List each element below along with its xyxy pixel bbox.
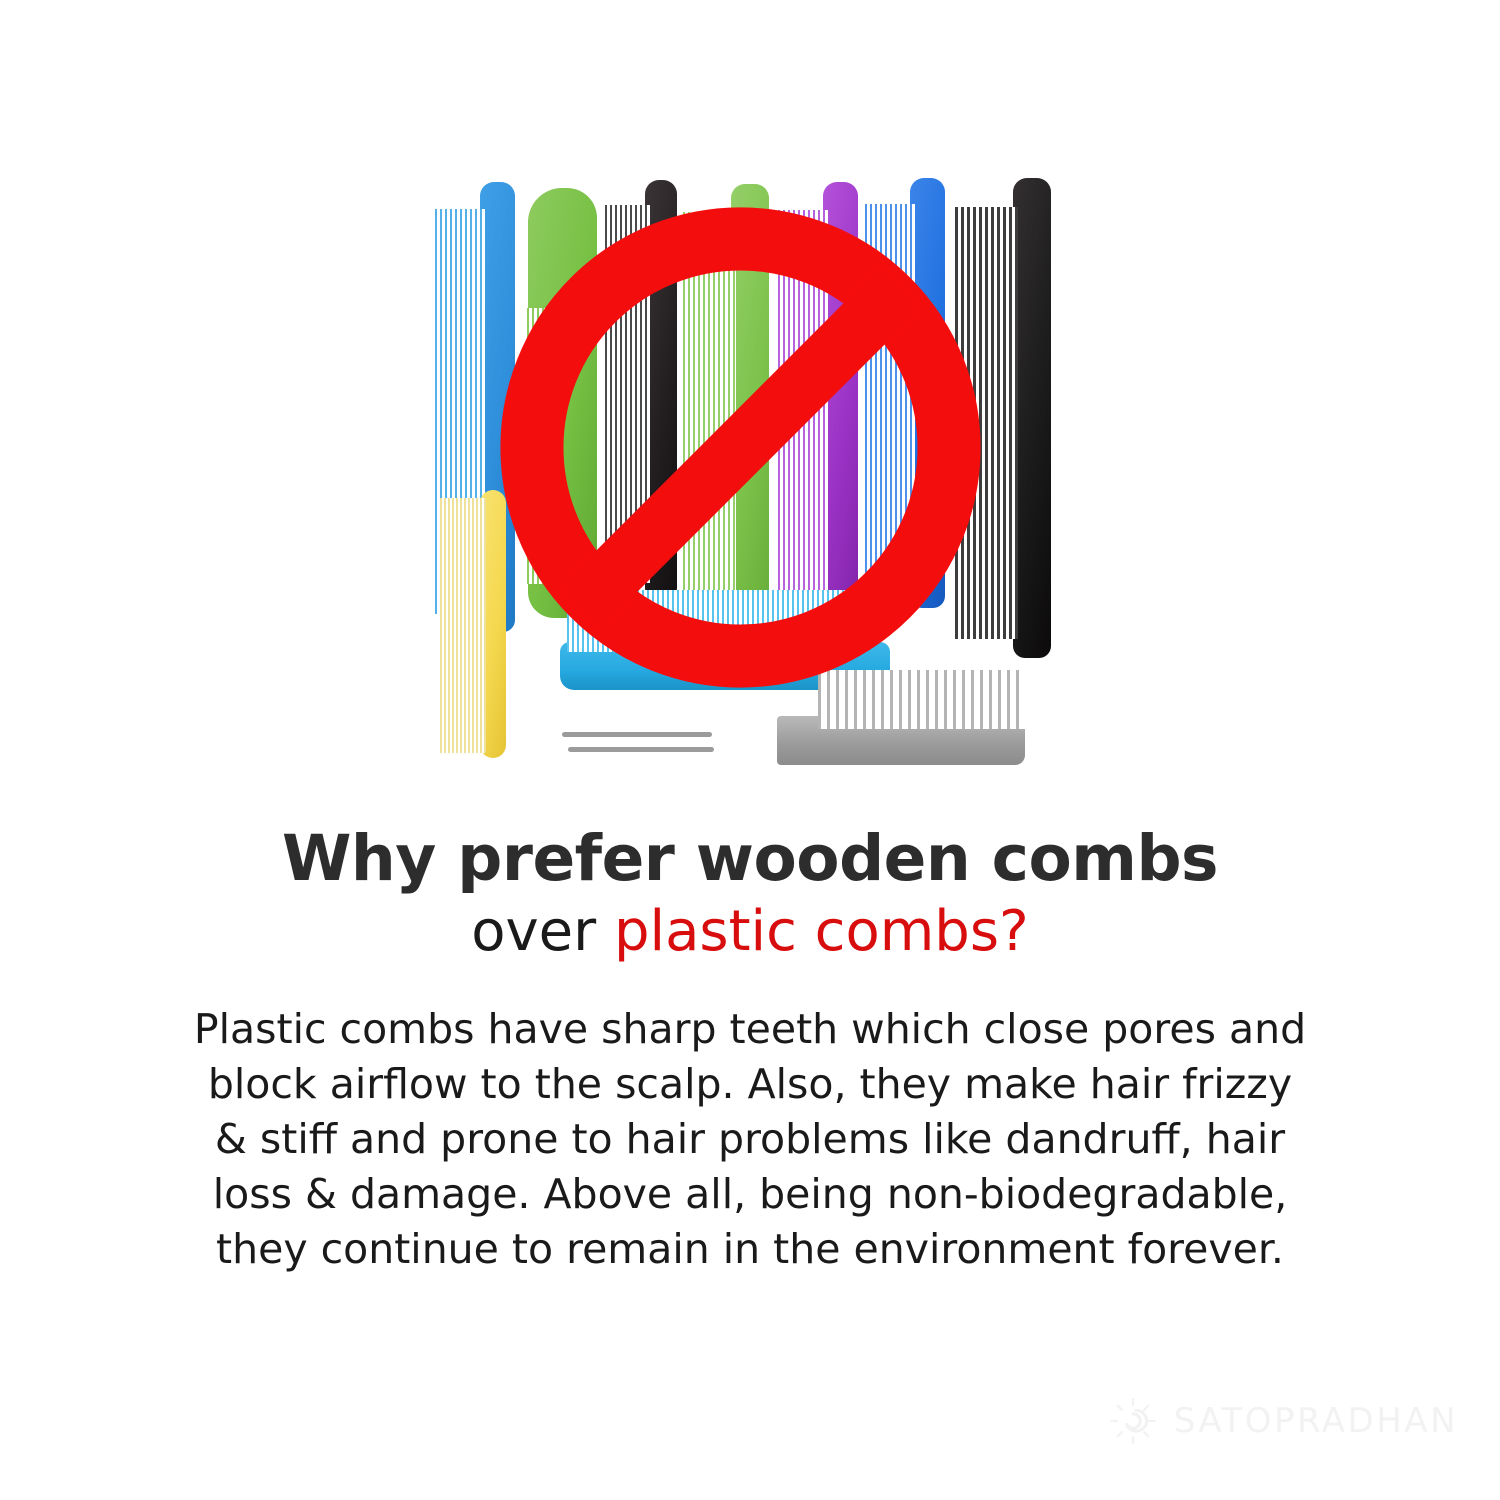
page-title-line2: over plastic combs? (0, 901, 1500, 964)
page-title-line1: Why prefer wooden combs (0, 825, 1500, 893)
copy-block: Why prefer wooden combs over plastic com… (0, 825, 1500, 1276)
comb-pin-prong (568, 747, 714, 752)
no-plastic-combs-sign (498, 205, 983, 690)
body-paragraph-text: Plastic combs have sharp teeth which clo… (190, 1002, 1310, 1277)
brand-watermark: SATOPRADHAN (1106, 1394, 1458, 1448)
comb-yellow-1 (440, 490, 506, 758)
page-title-line2-prefix: over (471, 899, 614, 964)
brand-name: SATOPRADHAN (1174, 1401, 1458, 1441)
hero-image-area (0, 0, 1500, 800)
comb-pin-prong (562, 732, 712, 737)
comb-teeth (440, 498, 486, 753)
poster-canvas: Why prefer wooden combs over plastic com… (0, 0, 1500, 1500)
page-title-line2-accent: plastic combs? (614, 899, 1029, 964)
sun-spiral-icon (1106, 1394, 1160, 1448)
comb-handle (1013, 178, 1051, 658)
body-paragraph: Plastic combs have sharp teeth which clo… (190, 1002, 1310, 1277)
